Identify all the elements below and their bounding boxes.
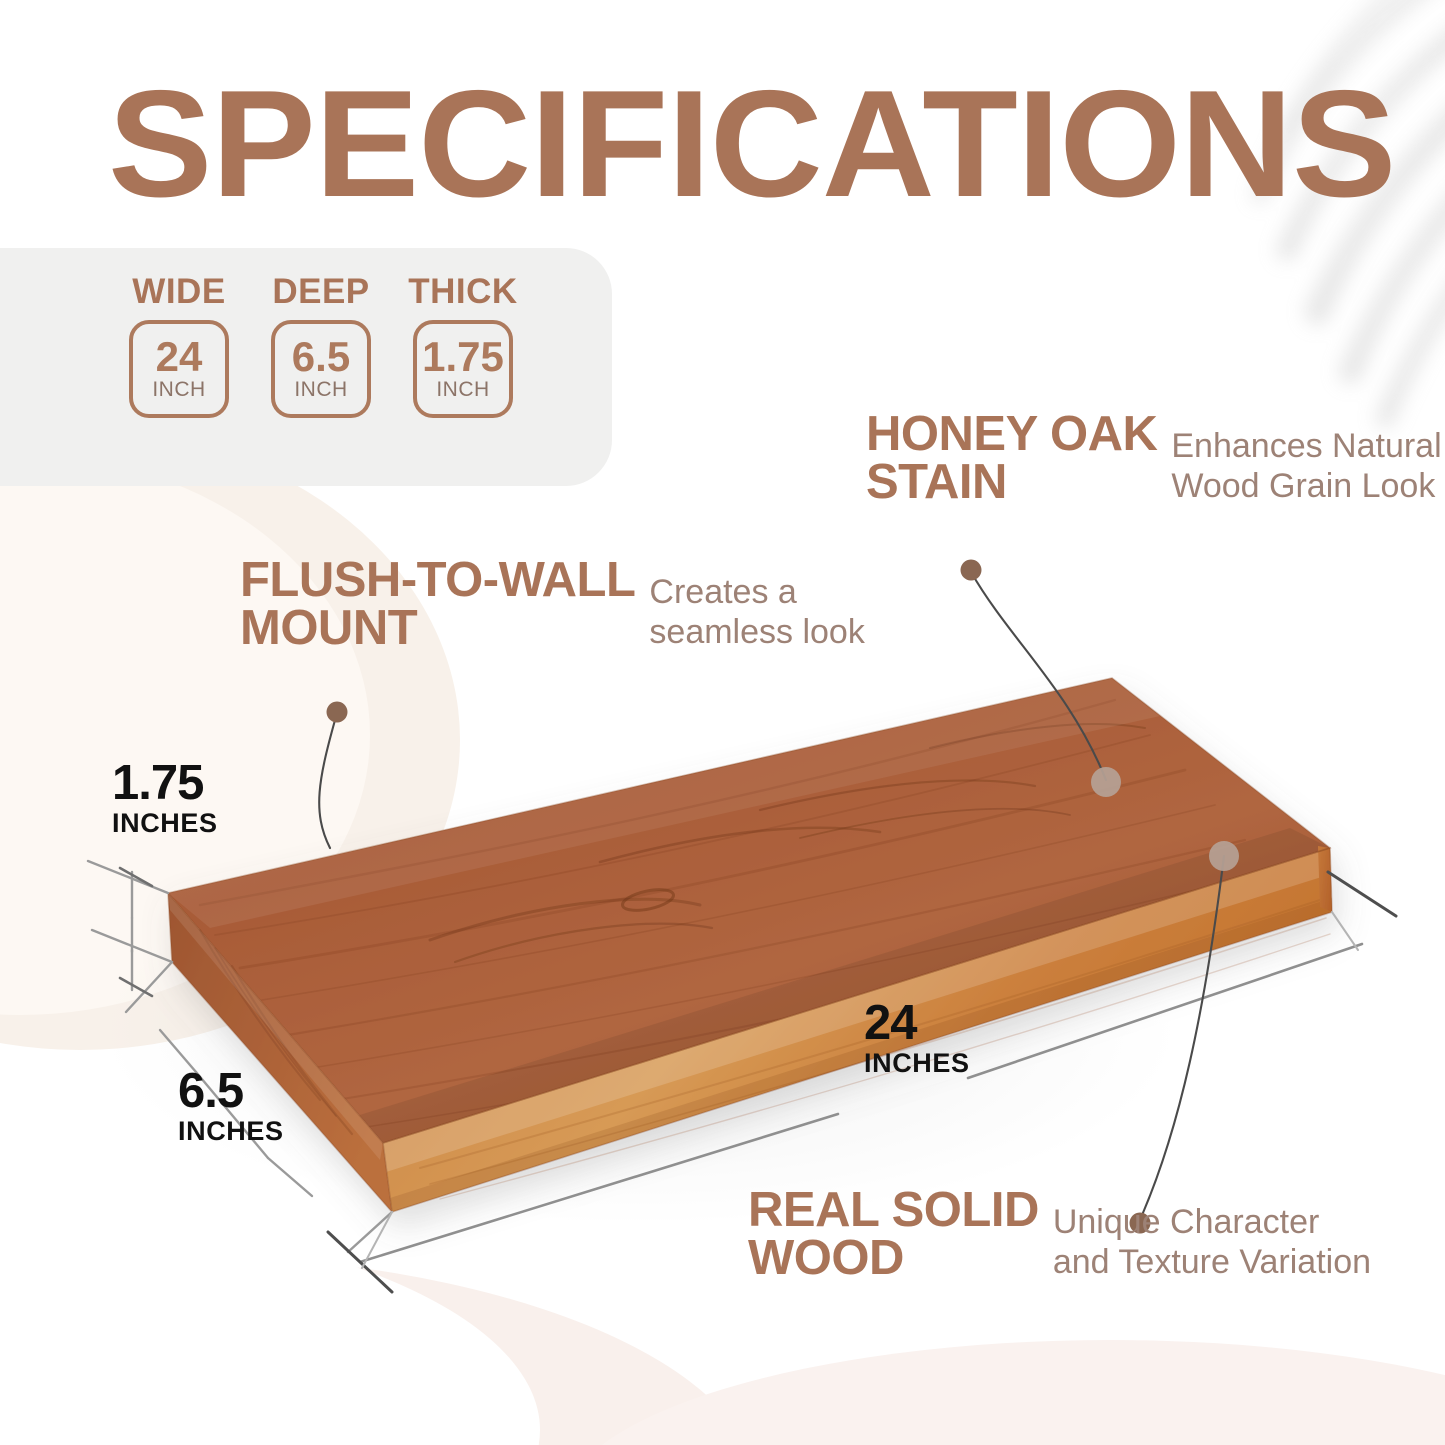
- leader-dot-honey: [961, 560, 982, 581]
- callout-subtext: Unique Character and Texture Variation: [1053, 1203, 1371, 1282]
- callout-honey-oak-stain: HONEY OAK STAIN Enhances Natural Wood Gr…: [866, 410, 1442, 506]
- callout-flush-to-wall-mount: FLUSH-TO-WALL MOUNT Creates a seamless l…: [240, 556, 865, 652]
- callout-heading: HONEY OAK STAIN: [866, 410, 1157, 506]
- callout-heading: REAL SOLID WOOD: [748, 1186, 1039, 1282]
- callout-leader-lines: [319, 572, 1224, 1222]
- callout-real-solid-wood: REAL SOLID WOOD Unique Character and Tex…: [748, 1186, 1371, 1282]
- leader-line-honey: [971, 572, 1106, 780]
- infographic-canvas: SPECIFICATIONS WIDE 24 INCH DEEP 6.5 INC…: [0, 0, 1445, 1445]
- dimension-unit: INCHES: [178, 1115, 284, 1149]
- dim-wide-segment-right: [968, 944, 1362, 1078]
- dimension-label-thickness: 1.75 INCHES: [112, 760, 218, 840]
- callout-subtext: Creates a seamless look: [649, 573, 864, 652]
- dim-deep-arrow-b: [268, 1158, 312, 1196]
- dimension-value: 6.5: [178, 1068, 284, 1115]
- callout-subtext: Enhances Natural Wood Grain Look: [1171, 427, 1441, 506]
- dimension-end-caps: [120, 868, 152, 996]
- dimension-guide-lines: [88, 861, 392, 1252]
- dimension-unit: INCHES: [112, 807, 218, 841]
- target-dot-real: [1209, 841, 1239, 871]
- leader-dot-flush: [327, 702, 348, 723]
- dimension-label-width: 24 INCHES: [864, 1000, 970, 1080]
- callout-heading: FLUSH-TO-WALL MOUNT: [240, 556, 635, 652]
- dimension-unit: INCHES: [864, 1047, 970, 1081]
- dimension-label-depth: 6.5 INCHES: [178, 1068, 284, 1148]
- dimension-value: 1.75: [112, 760, 218, 807]
- leader-line-real: [1139, 856, 1224, 1222]
- target-dot-honey: [1091, 767, 1121, 797]
- callout-leader-dots: [327, 560, 1151, 1234]
- callout-target-dots: [1091, 767, 1239, 871]
- leader-line-flush: [319, 713, 337, 848]
- dimension-value: 24: [864, 1000, 970, 1047]
